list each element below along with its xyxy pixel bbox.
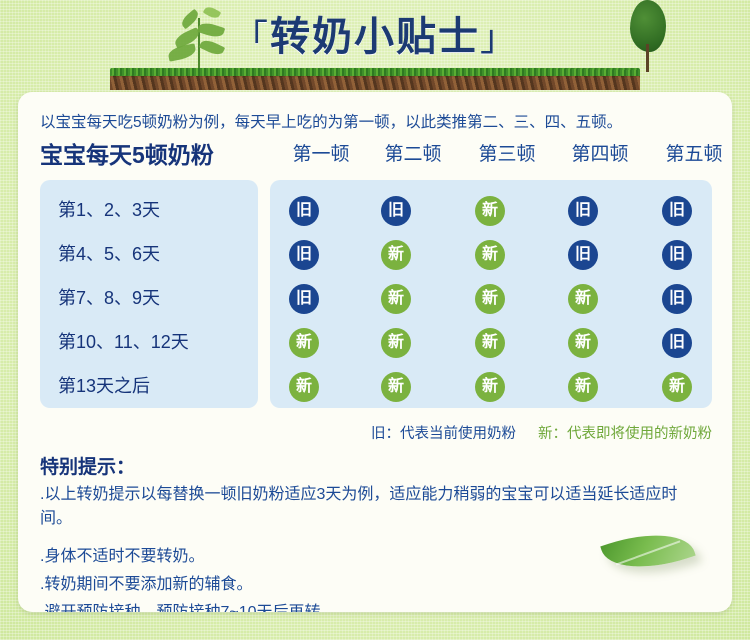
day-label-row-1: 第1、2、3天	[58, 188, 248, 233]
status-badge-new: 新	[662, 372, 692, 402]
status-badge-new: 新	[475, 328, 505, 358]
status-badge-new: 新	[568, 284, 598, 314]
status-badge-old: 旧	[568, 196, 598, 226]
status-badge-new: 新	[289, 372, 319, 402]
soil-strip-icon	[110, 76, 640, 90]
column-header-meal-4: 第四顿	[557, 139, 643, 166]
status-badge-old: 旧	[662, 240, 692, 270]
tips-title: 特别提示：	[40, 452, 135, 479]
status-badge-old: 旧	[381, 196, 411, 226]
status-badge-new: 新	[289, 328, 319, 358]
status-badge-new: 新	[568, 328, 598, 358]
bracket-right-icon: 」	[480, 17, 518, 58]
table-header: 宝宝每天5顿奶粉 第一顿 第二顿 第三顿 第四顿 第五顿	[40, 136, 712, 170]
plant-decoration-icon	[160, 6, 240, 72]
table-row-header-label: 宝宝每天5顿奶粉	[40, 136, 214, 170]
ground-decoration	[110, 68, 640, 90]
day-label-row-5: 第13天之后	[58, 364, 248, 409]
column-header-meal-3: 第三顿	[464, 139, 550, 166]
day-label-row-3: 第7、8、9天	[58, 276, 248, 321]
status-badge-old: 旧	[289, 196, 319, 226]
legend-new-label: 新：代表即将使用的新奶粉	[538, 426, 712, 442]
page-header: 「转奶小贴士」	[0, 0, 750, 88]
day-labels-panel: 第1、2、3天 第4、5、6天 第7、8、9天 第10、11、12天 第13天之…	[40, 180, 258, 408]
status-grid-panel: 旧旧新旧旧旧新新旧旧旧新新新旧新新新新旧新新新新新	[270, 180, 712, 408]
legend-old-label: 旧：代表当前使用奶粉	[371, 426, 516, 442]
leaf-decoration-icon	[604, 526, 696, 578]
column-header-meal-2: 第二顿	[370, 139, 456, 166]
column-header-meal-5: 第五顿	[651, 139, 732, 166]
status-badge-new: 新	[475, 284, 505, 314]
tip-item-4: .避开预防接种，预防接种7~10天后再转。	[40, 598, 700, 612]
status-badge-new: 新	[381, 240, 411, 270]
status-badge-old: 旧	[662, 284, 692, 314]
tip-item-3: .转奶期间不要添加新的辅食。	[40, 570, 700, 594]
tree-decoration-icon	[626, 0, 670, 72]
status-badge-old: 旧	[568, 240, 598, 270]
status-badge-new: 新	[475, 240, 505, 270]
intro-text: 以宝宝每天吃5顿奶粉为例，每天早上吃的为第一顿，以此类推第二、三、四、五顿。	[40, 110, 622, 132]
status-badge-old: 旧	[289, 284, 319, 314]
page-title-text: 转奶小贴士	[270, 15, 480, 59]
page-background: 「转奶小贴士」 以宝宝每天吃5顿奶粉为例，每天早上吃的为第一顿，以此类推第二、三…	[0, 0, 750, 640]
status-badge-new: 新	[475, 196, 505, 226]
day-label-row-2: 第4、5、6天	[58, 232, 248, 277]
status-badge-new: 新	[568, 372, 598, 402]
status-badge-new: 新	[475, 372, 505, 402]
column-header-meal-1: 第一顿	[278, 139, 364, 166]
status-badge-new: 新	[381, 328, 411, 358]
content-card: 以宝宝每天吃5顿奶粉为例，每天早上吃的为第一顿，以此类推第二、三、四、五顿。 宝…	[18, 92, 732, 612]
tip-item-1: .以上转奶提示以每替换一顿旧奶粉适应3天为例，适应能力稍弱的宝宝可以适当延长适应…	[40, 480, 700, 528]
day-label-row-4: 第10、11、12天	[58, 320, 248, 365]
status-badge-new: 新	[381, 372, 411, 402]
legend: 旧：代表当前使用奶粉 新：代表即将使用的新奶粉	[18, 422, 712, 443]
status-badge-old: 旧	[662, 196, 692, 226]
status-badge-new: 新	[381, 284, 411, 314]
status-badge-old: 旧	[662, 328, 692, 358]
status-badge-old: 旧	[289, 240, 319, 270]
